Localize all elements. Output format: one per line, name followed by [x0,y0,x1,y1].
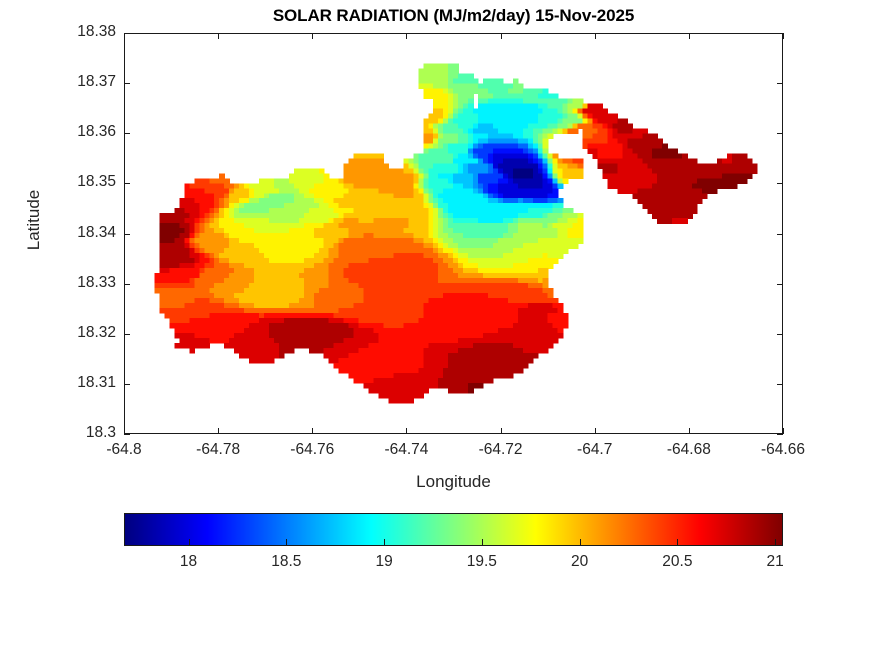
x-axis-tick [783,428,784,434]
y-axis-tick [124,434,130,435]
x-axis-tick [218,428,219,434]
y-axis-label: Latitude [24,160,44,280]
y-axis-tick [124,334,130,335]
x-axis-tick-label: -64.68 [644,441,734,459]
colorbar-tick-label: 18 [180,553,197,571]
y-axis-tick-right [777,434,783,435]
colorbar-tick [677,539,678,546]
y-axis-tick-right [777,384,783,385]
colorbar-tick-label: 19 [375,553,392,571]
x-axis-tick-top [406,33,407,39]
x-axis-tick-label: -64.76 [267,441,357,459]
x-axis-tick-top [595,33,596,39]
y-axis-tick [124,234,130,235]
y-axis-tick [124,183,130,184]
x-axis-tick-top [689,33,690,39]
x-axis-tick-label: -64.72 [456,441,546,459]
y-axis-tick-right [777,83,783,84]
x-axis-tick-top [783,33,784,39]
y-axis-tick-right [777,234,783,235]
y-axis-tick-right [777,133,783,134]
x-axis-tick [595,428,596,434]
x-axis-tick-top [218,33,219,39]
y-axis-tick [124,284,130,285]
x-axis-tick-label: -64.8 [79,441,169,459]
y-axis-tick [124,33,130,34]
y-axis-tick-label: 18.37 [16,73,116,91]
colorbar-tick-label: 20 [571,553,588,571]
x-axis-tick-label: -64.66 [738,441,828,459]
colorbar-tick [384,539,385,546]
colorbar-tick [286,539,287,546]
colorbar-tick [580,539,581,546]
x-axis-tick-label: -64.74 [361,441,451,459]
y-axis-tick-right [777,183,783,184]
colorbar-tick-label: 20.5 [662,553,692,571]
map-axes[interactable] [124,33,783,434]
y-axis-tick-right [777,334,783,335]
x-axis-tick [689,428,690,434]
y-axis-tick-label: 18.3 [16,424,116,442]
colorbar-tick [775,539,776,546]
y-axis-tick [124,384,130,385]
x-axis-tick [406,428,407,434]
y-axis-tick [124,133,130,134]
colorbar-tick-label: 21 [767,553,784,571]
colorbar-tick-label: 18.5 [271,553,301,571]
x-axis-tick-top [501,33,502,39]
x-axis-tick-top [312,33,313,39]
y-axis-tick-label: 18.32 [16,324,116,342]
x-axis-tick-label: -64.78 [173,441,263,459]
colorbar[interactable] [124,513,783,546]
figure-canvas: SOLAR RADIATION (MJ/m2/day) 15-Nov-2025 … [0,0,875,656]
x-axis-tick-label: -64.7 [550,441,640,459]
colorbar-tick [482,539,483,546]
x-axis-label: Longitude [124,472,783,492]
chart-title: SOLAR RADIATION (MJ/m2/day) 15-Nov-2025 [124,6,783,26]
colorbar-tick-label: 19.5 [467,553,497,571]
y-axis-tick-label: 18.38 [16,23,116,41]
y-axis-tick-label: 18.31 [16,374,116,392]
y-axis-tick-right [777,284,783,285]
y-axis-tick-label: 18.36 [16,123,116,141]
y-axis-tick-right [777,33,783,34]
colorbar-tick [189,539,190,546]
colorbar-gradient [125,514,782,545]
x-axis-tick [312,428,313,434]
x-axis-tick [501,428,502,434]
solar-radiation-heatmap [125,34,782,433]
y-axis-tick [124,83,130,84]
